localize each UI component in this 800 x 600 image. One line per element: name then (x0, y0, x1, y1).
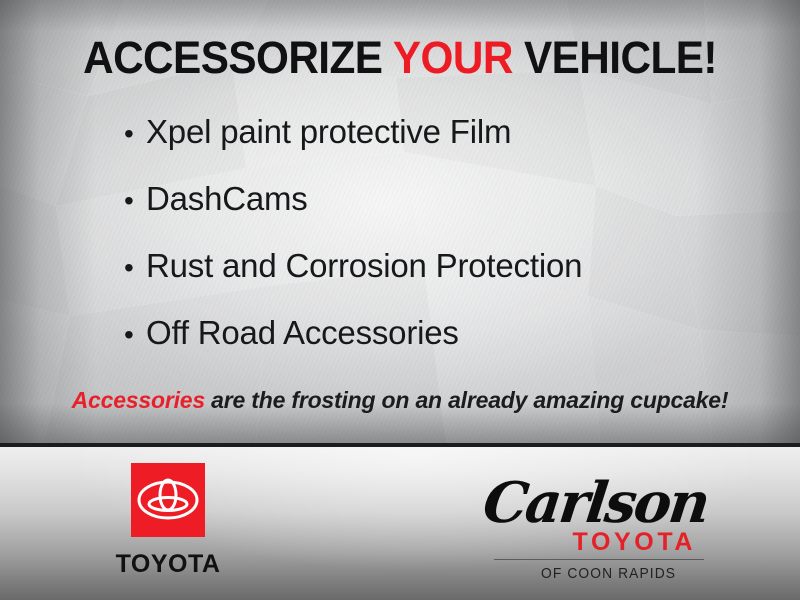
dealer-logo-rule (494, 559, 704, 560)
bullet-icon: • (124, 115, 146, 153)
bullet-icon: • (124, 249, 146, 287)
dealer-logo[interactable]: Carlson TOYOTA OF COON RAPIDS (480, 474, 704, 583)
toyota-emblem-icon (137, 478, 199, 522)
list-item: • DashCams (124, 180, 764, 247)
list-item: • Xpel paint protective Film (124, 113, 764, 180)
toyota-logo-tile (131, 463, 205, 537)
dealer-location: OF COON RAPIDS (489, 565, 695, 583)
headline-part-2: VEHICLE! (513, 32, 717, 83)
toyota-wordmark: TOYOTA (108, 551, 228, 577)
dealer-name-script: Carlson (480, 474, 711, 532)
feature-list: • Xpel paint protective Film • DashCams … (124, 113, 764, 381)
list-item: • Rust and Corrosion Protection (124, 247, 764, 314)
bullet-icon: • (124, 316, 146, 354)
bullet-icon: • (124, 182, 146, 220)
tagline: Accessories are the frosting on an alrea… (0, 386, 800, 414)
list-item-label: Xpel paint protective Film (146, 113, 511, 151)
list-item: • Off Road Accessories (124, 314, 764, 381)
headline: ACCESSORIZE YOUR VEHICLE! (24, 34, 776, 82)
list-item-label: Rust and Corrosion Protection (146, 247, 582, 285)
promo-slide: ACCESSORIZE YOUR VEHICLE! • Xpel paint p… (0, 0, 800, 600)
tagline-rest: are the frosting on an already amazing c… (205, 387, 728, 413)
tagline-emphasis: Accessories (72, 387, 205, 413)
list-item-label: Off Road Accessories (146, 314, 459, 352)
headline-emphasis: YOUR (393, 32, 513, 83)
toyota-logo[interactable]: TOYOTA (108, 463, 228, 577)
list-item-label: DashCams (146, 180, 308, 218)
headline-part-1: ACCESSORIZE (83, 32, 393, 83)
